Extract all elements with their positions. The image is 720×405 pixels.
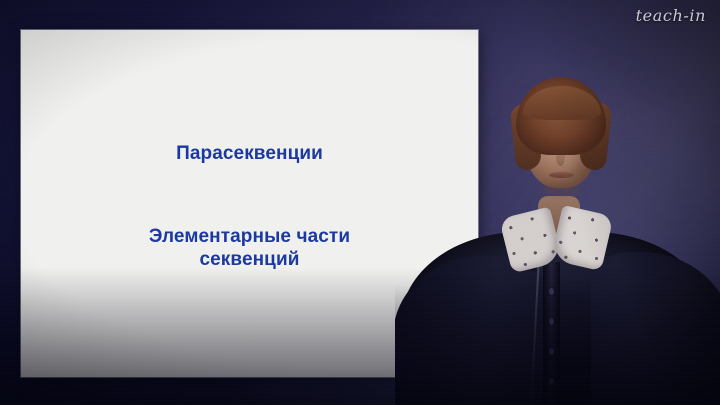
frame-vignette	[0, 0, 720, 405]
teach-in-watermark: teach-in	[636, 6, 706, 25]
video-frame: Парасеквенции Элементарные части секвенц…	[0, 0, 720, 405]
